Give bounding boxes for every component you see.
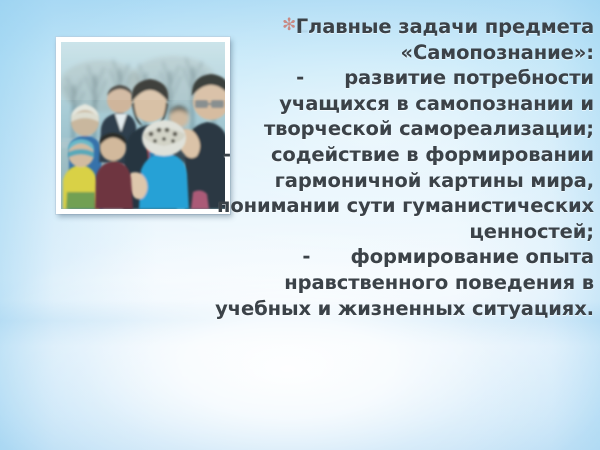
text-line: «Самопознание»: — [196, 40, 594, 66]
slide-body-text: ✻ Главные задачи предмета «Самопознание»… — [196, 14, 594, 321]
text-line: гармоничной картины мира, — [196, 168, 594, 194]
text-line: творческой самореализации; — [196, 116, 594, 142]
text-line: Главные задачи предмета — [196, 14, 594, 40]
text-line: нравственного поведения в — [196, 270, 594, 296]
text-line: - формирование опыта — [196, 244, 594, 270]
text-line: ценностей; — [196, 219, 594, 245]
text-line: учащихся в самопознании и — [196, 91, 594, 117]
text-line: понимании сути гуманистических — [196, 193, 594, 219]
text-line: учебных и жизненных ситуациях. — [196, 296, 594, 322]
text-line: - развитие потребности — [196, 65, 594, 91]
text-line: - содействие в формировании — [196, 142, 594, 168]
presentation-slide: ✻ Главные задачи предмета «Самопознание»… — [0, 0, 600, 450]
bullet-paragraph: Главные задачи предмета «Самопознание»: … — [196, 14, 594, 321]
